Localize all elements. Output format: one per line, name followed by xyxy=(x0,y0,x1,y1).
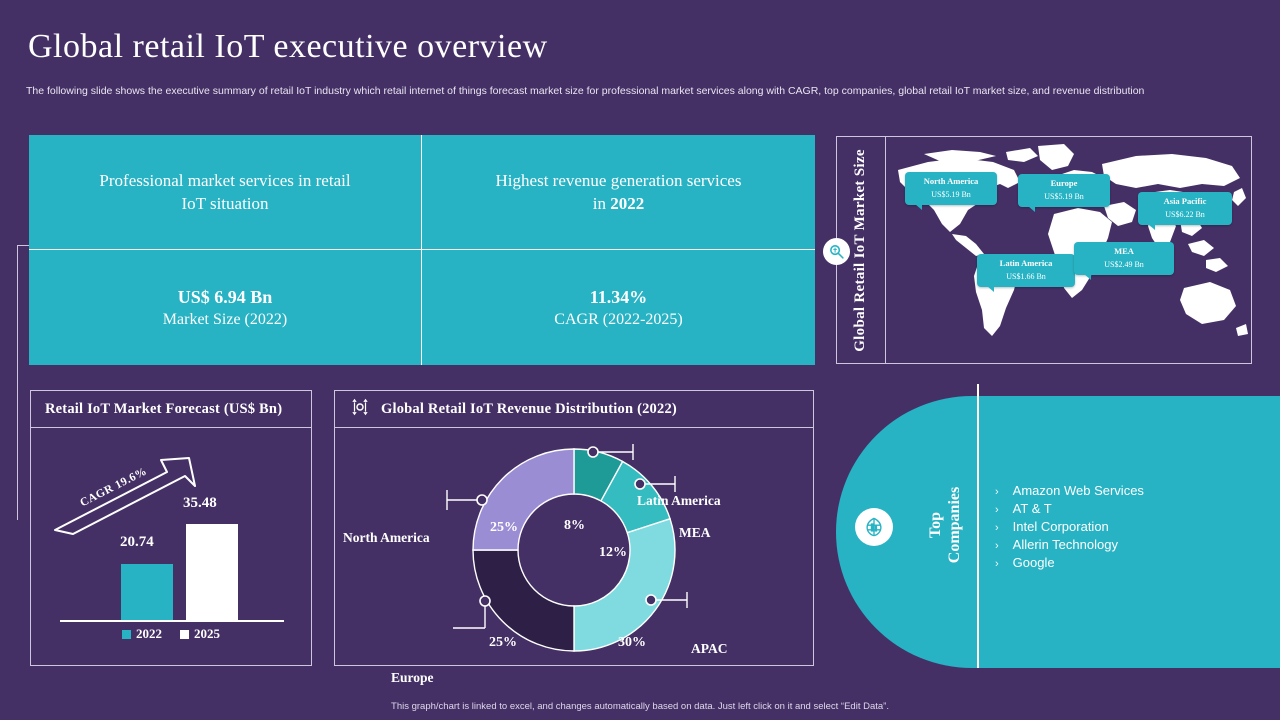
kpi-heading-line1: Highest revenue generation services xyxy=(496,171,742,190)
kpi-heading: Highest revenue generation services in 2… xyxy=(496,169,742,215)
company-name: Intel Corporation xyxy=(1013,519,1109,534)
bar-chart-axis xyxy=(60,620,284,622)
company-name: Google xyxy=(1013,555,1055,570)
left-decorative-rule xyxy=(17,245,18,520)
legend-swatch-2025 xyxy=(180,630,189,639)
kpi-heading-year: 2022 xyxy=(610,194,644,213)
donut-pct-north-america: 25% xyxy=(490,520,518,536)
kpi-grid: Professional market services in retail I… xyxy=(29,135,815,365)
bar-chart-plot: CAGR 19.6% 20.74 35.48 2022 2025 xyxy=(31,428,311,666)
kpi-cell-market-size: US$ 6.94 Bn Market Size (2022) xyxy=(29,250,422,365)
list-item[interactable]: › Amazon Web Services xyxy=(995,483,1144,501)
magnifier-icon xyxy=(823,238,850,265)
bar-2025 xyxy=(186,524,238,620)
donut-label-latin-america: Latin America xyxy=(637,493,721,509)
kpi-caption: CAGR (2022-2025) xyxy=(554,309,682,331)
map-vertical-title: Global Retail IoT Market Size xyxy=(852,149,869,352)
bar-chart-legend: 2022 2025 xyxy=(31,626,311,642)
donut-chart-header: Global Retail IoT Revenue Distribution (… xyxy=(335,391,813,428)
donut-pct-europe: 25% xyxy=(489,635,517,651)
bar-value-label-2025: 35.48 xyxy=(183,495,217,512)
kpi-heading-line2: in xyxy=(593,194,610,213)
donut-label-europe: Europe xyxy=(391,670,434,686)
top-companies-vertical-title: Top Companies xyxy=(880,460,1010,590)
bar-2022 xyxy=(121,564,173,620)
donut-pct-mea: 12% xyxy=(599,545,627,561)
company-name: Amazon Web Services xyxy=(1013,483,1144,498)
chevron-right-icon: › xyxy=(995,540,999,552)
chevron-right-icon: › xyxy=(995,522,999,534)
kpi-cell-professional-services: Professional market services in retail I… xyxy=(29,135,422,250)
donut-pct-latin-america: 8% xyxy=(564,518,585,534)
map-tag-latin-america: Latin America US$1.66 Bn xyxy=(977,254,1075,287)
top-companies-list: › Amazon Web Services › AT & T › Intel C… xyxy=(995,483,1144,573)
page-subtitle: The following slide shows the executive … xyxy=(26,84,1186,98)
legend-label-2025: 2025 xyxy=(194,626,220,642)
legend-item-2025: 2025 xyxy=(180,626,220,642)
map-tag-mea: MEA US$2.49 Bn xyxy=(1074,242,1174,275)
list-item[interactable]: › Allerin Technology xyxy=(995,537,1144,555)
bar-chart-header: Retail IoT Market Forecast (US$ Bn) xyxy=(31,391,311,428)
kpi-cell-cagr: 11.34% CAGR (2022-2025) xyxy=(422,250,815,365)
top-companies-title-line1: Top xyxy=(927,512,944,538)
donut-pct-apac: 30% xyxy=(618,635,646,651)
legend-label-2022: 2022 xyxy=(136,626,162,642)
kpi-cell-highest-revenue: Highest revenue generation services in 2… xyxy=(422,135,815,250)
map-tag-asia-pacific: Asia Pacific US$6.22 Bn xyxy=(1138,192,1232,225)
donut-chart-card: Global Retail IoT Revenue Distribution (… xyxy=(334,390,814,666)
kpi-heading-line1: Professional market services in retail xyxy=(99,171,350,190)
map-tag-north-america: North America US$5.19 Bn xyxy=(905,172,997,205)
list-item[interactable]: › AT & T xyxy=(995,501,1144,519)
chevron-right-icon: › xyxy=(995,558,999,570)
top-companies-title-line2: Companies xyxy=(946,487,963,563)
map-tag-europe: Europe US$5.19 Bn xyxy=(1018,174,1110,207)
footer-note: This graph/chart is linked to excel, and… xyxy=(0,701,1280,712)
donut-chart-plot: 8% 12% 30% 25% 25% Latin America MEA APA… xyxy=(335,428,813,666)
bar-chart-title: Retail IoT Market Forecast (US$ Bn) xyxy=(45,401,282,418)
bar-value-label-2022: 20.74 xyxy=(120,534,154,551)
chevron-right-icon: › xyxy=(995,504,999,516)
kpi-heading-line2: IoT situation xyxy=(181,194,268,213)
kpi-heading: Professional market services in retail I… xyxy=(99,169,350,215)
kpi-caption: Market Size (2022) xyxy=(163,309,287,331)
page-title: Global retail IoT executive overview xyxy=(28,28,548,66)
bar-chart-card: Retail IoT Market Forecast (US$ Bn) CAGR… xyxy=(30,390,312,666)
company-name: AT & T xyxy=(1013,501,1052,516)
kpi-value: 11.34% xyxy=(590,285,648,309)
company-name: Allerin Technology xyxy=(1013,537,1118,552)
iot-network-icon xyxy=(349,396,371,423)
legend-swatch-2022 xyxy=(122,630,131,639)
donut-label-north-america: North America xyxy=(343,530,430,546)
legend-item-2022: 2022 xyxy=(122,626,162,642)
list-item[interactable]: › Google xyxy=(995,555,1144,573)
donut-chart-title: Global Retail IoT Revenue Distribution (… xyxy=(381,401,677,418)
chevron-right-icon: › xyxy=(995,486,999,498)
donut-label-mea: MEA xyxy=(679,525,711,541)
donut-label-apac: APAC xyxy=(691,641,728,657)
list-item[interactable]: › Intel Corporation xyxy=(995,519,1144,537)
kpi-value: US$ 6.94 Bn xyxy=(178,285,273,309)
